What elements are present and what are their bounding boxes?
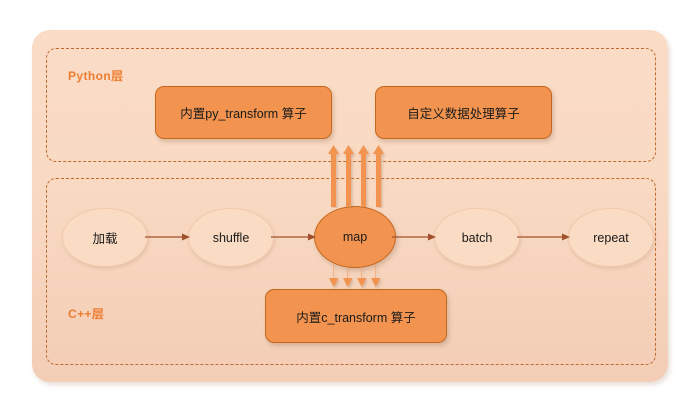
- layer-label-cpp: C++层: [68, 305, 104, 322]
- operator-box-py-transform[interactable]: 内置py_transform 算子: [155, 86, 332, 139]
- connector-shuffle-to-map: [271, 232, 316, 242]
- pipeline-node-shuffle[interactable]: shuffle: [188, 208, 274, 267]
- layer-label-python: Python层: [68, 67, 123, 84]
- vertical-arrows-up-icon: [328, 144, 388, 208]
- connector-map-to-batch: [392, 232, 436, 242]
- vertical-arrows-down-icon: [329, 264, 385, 290]
- operator-box-custom-data-process[interactable]: 自定义数据处理算子: [375, 86, 552, 139]
- diagram-canvas: Python层 C++层 内置py_transform 算子 自定义数据处理算子…: [0, 0, 700, 410]
- pipeline-node-load[interactable]: 加载: [62, 208, 148, 267]
- operator-box-c-transform[interactable]: 内置c_transform 算子: [265, 289, 447, 343]
- pipeline-node-map[interactable]: map: [314, 206, 396, 268]
- connector-batch-to-repeat: [517, 232, 570, 242]
- connector-load-to-shuffle: [145, 232, 190, 242]
- pipeline-node-batch[interactable]: batch: [434, 208, 520, 267]
- pipeline-node-repeat[interactable]: repeat: [568, 208, 654, 267]
